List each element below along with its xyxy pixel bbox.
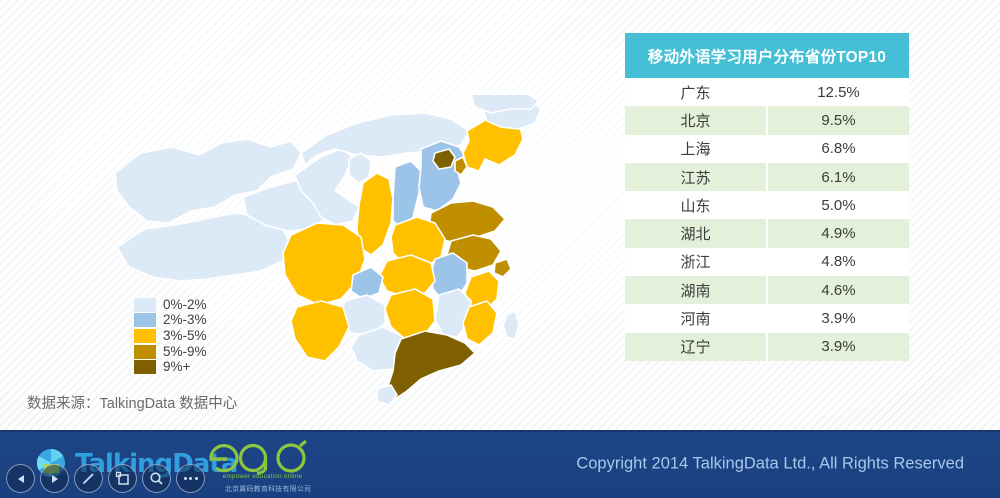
cell-province: 山东 xyxy=(625,191,766,219)
cell-value: 4.9% xyxy=(768,219,909,247)
triangle-right-icon xyxy=(49,473,61,485)
cell-province: 湖北 xyxy=(625,219,766,247)
map-region-ningxia xyxy=(349,153,371,183)
legend-swatch-3-5 xyxy=(134,329,156,343)
ego-mark-icon xyxy=(205,439,320,475)
table-row: 广东 12.5% xyxy=(625,78,909,106)
legend-swatch-9-plus xyxy=(134,360,156,374)
cell-value: 6.8% xyxy=(768,135,909,163)
slides-icon xyxy=(115,471,130,486)
cell-province: 江苏 xyxy=(625,163,766,191)
cell-value: 4.6% xyxy=(768,276,909,304)
map-legend: 0%-2% 2%-3% 3%-5% 5%-9% 9%+ xyxy=(134,297,207,375)
table-row: 上海 6.8% xyxy=(625,135,909,163)
cell-value: 3.9% xyxy=(768,333,909,361)
legend-swatch-0-2 xyxy=(134,298,156,312)
table-row: 北京 9.5% xyxy=(625,106,909,134)
legend-label-5-9: 5%-9% xyxy=(163,345,207,359)
table-title: 移动外语学习用户分布省份TOP10 xyxy=(625,33,909,78)
table-row: 山东 5.0% xyxy=(625,191,909,219)
presentation-toolbar[interactable] xyxy=(6,464,205,493)
table-row: 湖北 4.9% xyxy=(625,219,909,247)
slide-canvas: 0%-2% 2%-3% 3%-5% 5%-9% 9%+ 数据来源：Talking… xyxy=(0,0,1000,430)
legend-label-0-2: 0%-2% xyxy=(163,298,207,312)
magnifier-icon xyxy=(149,471,164,486)
legend-item: 0%-2% xyxy=(134,297,207,313)
copyright-text: Copyright 2014 TalkingData Ltd., All Rig… xyxy=(576,455,964,474)
legend-swatch-5-9 xyxy=(134,345,156,359)
legend-label-9-plus: 9%+ xyxy=(163,360,190,374)
cell-province: 北京 xyxy=(625,106,766,134)
cell-province: 辽宁 xyxy=(625,333,766,361)
legend-item: 3%-5% xyxy=(134,328,207,344)
cell-province: 河南 xyxy=(625,304,766,332)
table-row: 湖南 4.6% xyxy=(625,276,909,304)
pen-tool-button[interactable] xyxy=(74,464,103,493)
map-region-beijing xyxy=(433,149,455,169)
map-region-yunnan xyxy=(291,301,349,361)
cell-value: 12.5% xyxy=(768,78,909,106)
cell-value: 3.9% xyxy=(768,304,909,332)
ellipsis-icon xyxy=(184,477,198,480)
zoom-button[interactable] xyxy=(142,464,171,493)
pen-icon xyxy=(81,471,96,486)
legend-item: 5%-9% xyxy=(134,344,207,360)
next-slide-button[interactable] xyxy=(40,464,69,493)
table-row: 浙江 4.8% xyxy=(625,248,909,276)
more-options-button[interactable] xyxy=(176,464,205,493)
top10-table: 移动外语学习用户分布省份TOP10 广东 12.5% 北京 9.5% 上海 6.… xyxy=(625,33,909,361)
cell-value: 4.8% xyxy=(768,248,909,276)
previous-slide-button[interactable] xyxy=(6,464,35,493)
map-region-guangdong xyxy=(387,331,475,399)
legend-item: 9%+ xyxy=(134,359,207,375)
ego-logo: empower education online 北京翼码教育科技有限公司 xyxy=(205,439,320,491)
map-region-shanghai xyxy=(494,259,511,277)
legend-label-3-5: 3%-5% xyxy=(163,329,207,343)
ego-company-cn: 北京翼码教育科技有限公司 xyxy=(225,483,311,493)
table-row: 江苏 6.1% xyxy=(625,163,909,191)
cell-province: 上海 xyxy=(625,135,766,163)
cell-province: 浙江 xyxy=(625,248,766,276)
map-region-taiwan xyxy=(503,311,519,339)
table-row: 辽宁 3.9% xyxy=(625,333,909,361)
ego-tagline: empower education online xyxy=(205,473,320,480)
data-source-note: 数据来源：TalkingData 数据中心 xyxy=(27,392,237,413)
table-row: 河南 3.9% xyxy=(625,304,909,332)
cell-value: 9.5% xyxy=(768,106,909,134)
cell-value: 6.1% xyxy=(768,163,909,191)
triangle-left-icon xyxy=(15,473,27,485)
cell-province: 广东 xyxy=(625,78,766,106)
cell-province: 湖南 xyxy=(625,276,766,304)
layout-button[interactable] xyxy=(108,464,137,493)
cell-value: 5.0% xyxy=(768,191,909,219)
legend-swatch-2-3 xyxy=(134,313,156,327)
legend-item: 2%-3% xyxy=(134,313,207,329)
footer-divider xyxy=(0,430,1000,432)
legend-label-2-3: 2%-3% xyxy=(163,313,207,327)
map-region-fujian xyxy=(463,301,497,345)
